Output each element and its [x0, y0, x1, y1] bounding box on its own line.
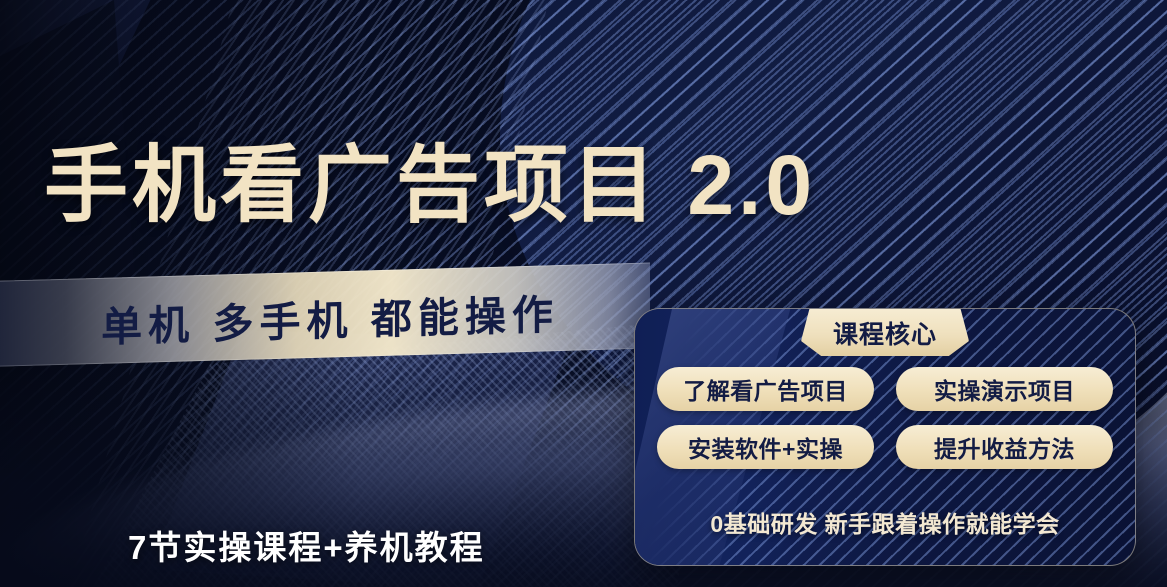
course-core-pill[interactable]: 实操演示项目 — [896, 367, 1113, 411]
course-core-footnote: 0基础研发 新手跟着操作就能学会 — [635, 505, 1135, 539]
bottom-note: 7节实操课程+养机教程 — [128, 521, 485, 569]
course-core-tab: 课程核心 — [801, 309, 969, 356]
promo-banner: 手机看广告项目 2.0 单机 多手机 都能操作 7节实操课程+养机教程 课程核心… — [0, 0, 1167, 587]
page-title: 手机看广告项目 2.0 — [44, 118, 816, 239]
course-core-card: 课程核心 了解看广告项目 实操演示项目 安装软件+实操 提升收益方法 0基础研发… — [634, 308, 1136, 566]
course-core-pill[interactable]: 安装软件+实操 — [657, 425, 874, 469]
course-core-pill-list: 了解看广告项目 实操演示项目 安装软件+实操 提升收益方法 — [657, 367, 1113, 469]
course-core-pill[interactable]: 提升收益方法 — [896, 425, 1113, 469]
course-core-pill[interactable]: 了解看广告项目 — [657, 367, 874, 411]
